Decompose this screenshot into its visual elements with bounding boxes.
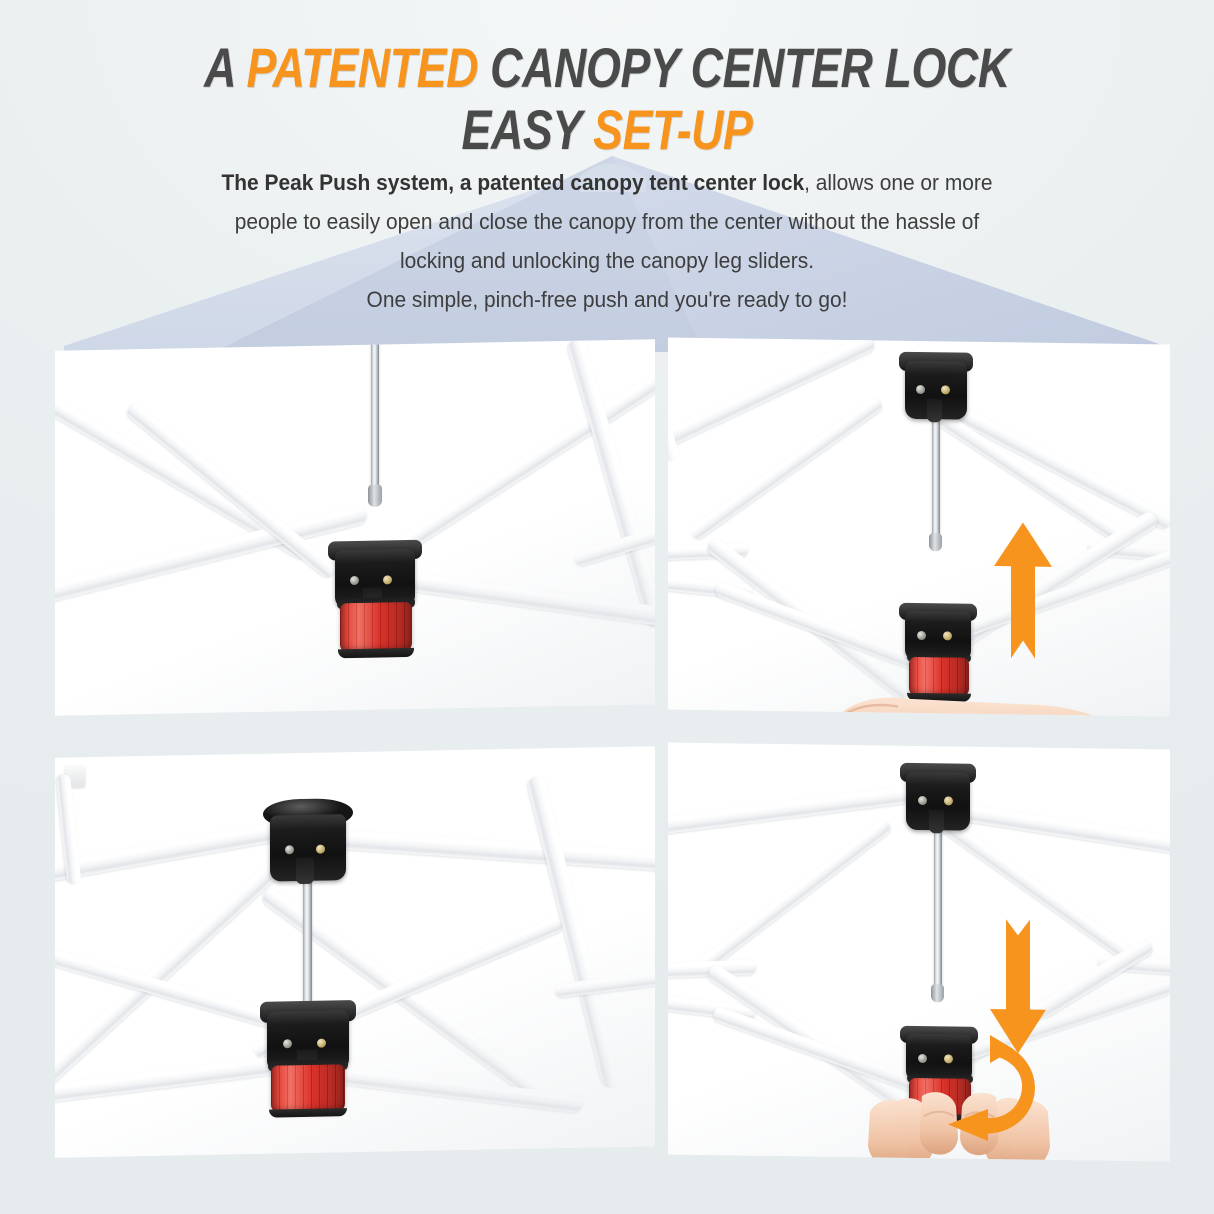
panel-twist-down bbox=[668, 742, 1170, 1161]
knob-band bbox=[340, 602, 412, 653]
frame-tube bbox=[668, 337, 680, 462]
title-line1-part2: CANOPY CENTER LOCK bbox=[478, 36, 1010, 99]
title-line1-highlight: PATENTED bbox=[247, 36, 479, 99]
panel-canopy-closed bbox=[55, 339, 655, 716]
title-line-2: EASY SET-UP bbox=[121, 96, 1092, 158]
infographic-stage: A PATENTED CANOPY CENTER LOCK EASY SET-U… bbox=[0, 0, 1214, 1214]
title-line2-highlight: SET-UP bbox=[593, 98, 752, 161]
page-title: A PATENTED CANOPY CENTER LOCK EASY SET-U… bbox=[121, 0, 1092, 158]
title-line-1: A PATENTED CANOPY CENTER LOCK bbox=[121, 0, 1092, 96]
description-line-3: locking and unlocking the canopy leg sli… bbox=[42, 241, 1171, 280]
hub-screw bbox=[917, 631, 926, 640]
hub-notch bbox=[927, 399, 942, 422]
arrow-up-icon bbox=[992, 522, 1054, 659]
panel-2-scene bbox=[668, 337, 1170, 716]
upper-hub bbox=[905, 361, 967, 420]
red-lock-knob bbox=[340, 602, 412, 653]
chrome-push-rod bbox=[932, 413, 940, 543]
title-line2-part1: EASY bbox=[461, 98, 593, 161]
knob-collar-bottom bbox=[338, 647, 414, 657]
red-lock-knob bbox=[271, 1064, 345, 1113]
description-block: The Peak Push system, a patented canopy … bbox=[42, 163, 1171, 319]
frame-tube bbox=[697, 818, 892, 973]
rod-tip bbox=[931, 984, 944, 1002]
description-line-2: people to easily open and close the cano… bbox=[42, 202, 1171, 241]
panel-1-scene bbox=[55, 339, 655, 716]
knob-band bbox=[271, 1064, 345, 1113]
hand-supporting-knob bbox=[818, 676, 1148, 717]
panel-3-scene bbox=[55, 746, 655, 1158]
rod-tip bbox=[368, 484, 382, 506]
header-block: A PATENTED CANOPY CENTER LOCK EASY SET-U… bbox=[0, 0, 1214, 158]
hub-screw bbox=[918, 796, 927, 805]
chrome-push-rod bbox=[303, 877, 312, 1019]
upper-hub bbox=[906, 772, 970, 831]
rod-tip bbox=[929, 533, 942, 551]
frame-tube bbox=[554, 969, 655, 998]
title-line1-part1: A bbox=[204, 36, 246, 99]
upper-hub bbox=[270, 814, 346, 881]
panel-open-locked bbox=[55, 746, 655, 1158]
frame-tube bbox=[668, 337, 876, 455]
frame-tube bbox=[947, 549, 1170, 642]
description-line1-rest: , allows one or more bbox=[804, 170, 992, 195]
chrome-push-rod bbox=[934, 824, 942, 992]
panel-4-scene bbox=[668, 742, 1170, 1161]
hub-notch bbox=[296, 858, 314, 885]
description-line-1: The Peak Push system, a patented canopy … bbox=[42, 163, 1171, 202]
knob-collar-bottom bbox=[269, 1108, 347, 1118]
hub-screw bbox=[943, 631, 952, 640]
arrow-rotate-icon bbox=[896, 1032, 1046, 1144]
hub-screw bbox=[916, 385, 925, 394]
hub-screw bbox=[941, 385, 950, 394]
panel-push-up bbox=[668, 337, 1170, 716]
hub-notch bbox=[929, 810, 944, 833]
chrome-push-rod bbox=[371, 339, 379, 490]
description-line-4: One simple, pinch-free push and you're r… bbox=[42, 280, 1171, 319]
description-line1-bold: The Peak Push system, a patented canopy … bbox=[221, 170, 804, 195]
hub-screw bbox=[944, 796, 953, 805]
